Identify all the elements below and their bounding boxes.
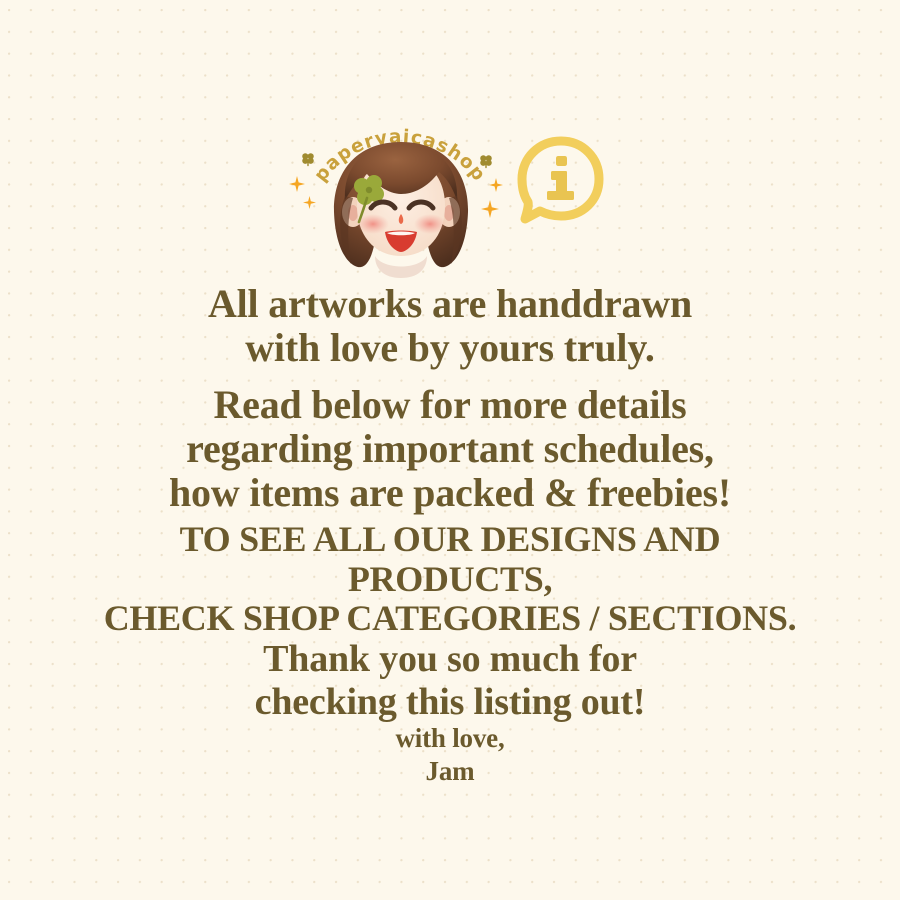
intro-line-2: with love by yours truly. xyxy=(0,326,900,370)
thank-you-line-1: Thank you so much for xyxy=(0,638,900,681)
thank-you-block: Thank you so much for checking this list… xyxy=(0,638,900,723)
info-speech-bubble-icon[interactable] xyxy=(513,133,605,229)
signoff-line-1: with love, xyxy=(0,722,900,755)
read-below-text-block: Read below for more details regarding im… xyxy=(0,383,900,515)
intro-text-block: All artworks are handdrawn with love by … xyxy=(0,282,900,369)
header-logo-row: papervaicashop xyxy=(0,104,900,284)
girl-avatar-icon xyxy=(317,136,485,278)
designs-notice-line-3: CHECK SHOP CATEGORIES / SECTIONS. xyxy=(0,599,900,639)
designs-notice-line-2: PRODUCTS, xyxy=(0,560,900,600)
designs-notice-line-1: TO SEE ALL OUR DESIGNS AND xyxy=(0,520,900,560)
info-letter xyxy=(547,156,574,200)
thank-you-line-2: checking this listing out! xyxy=(0,681,900,724)
read-below-line-3: how items are packed & freebies! xyxy=(0,471,900,515)
read-below-line-1: Read below for more details xyxy=(0,383,900,427)
listing-info-card: papervaicashop xyxy=(0,0,900,900)
intro-line-1: All artworks are handdrawn xyxy=(0,282,900,326)
brand-logo: papervaicashop xyxy=(295,104,505,284)
read-below-line-2: regarding important schedules, xyxy=(0,427,900,471)
signoff-signature: Jam xyxy=(0,755,900,788)
signoff-block: with love, Jam xyxy=(0,722,900,788)
designs-notice-block: TO SEE ALL OUR DESIGNS AND PRODUCTS, CHE… xyxy=(0,520,900,639)
